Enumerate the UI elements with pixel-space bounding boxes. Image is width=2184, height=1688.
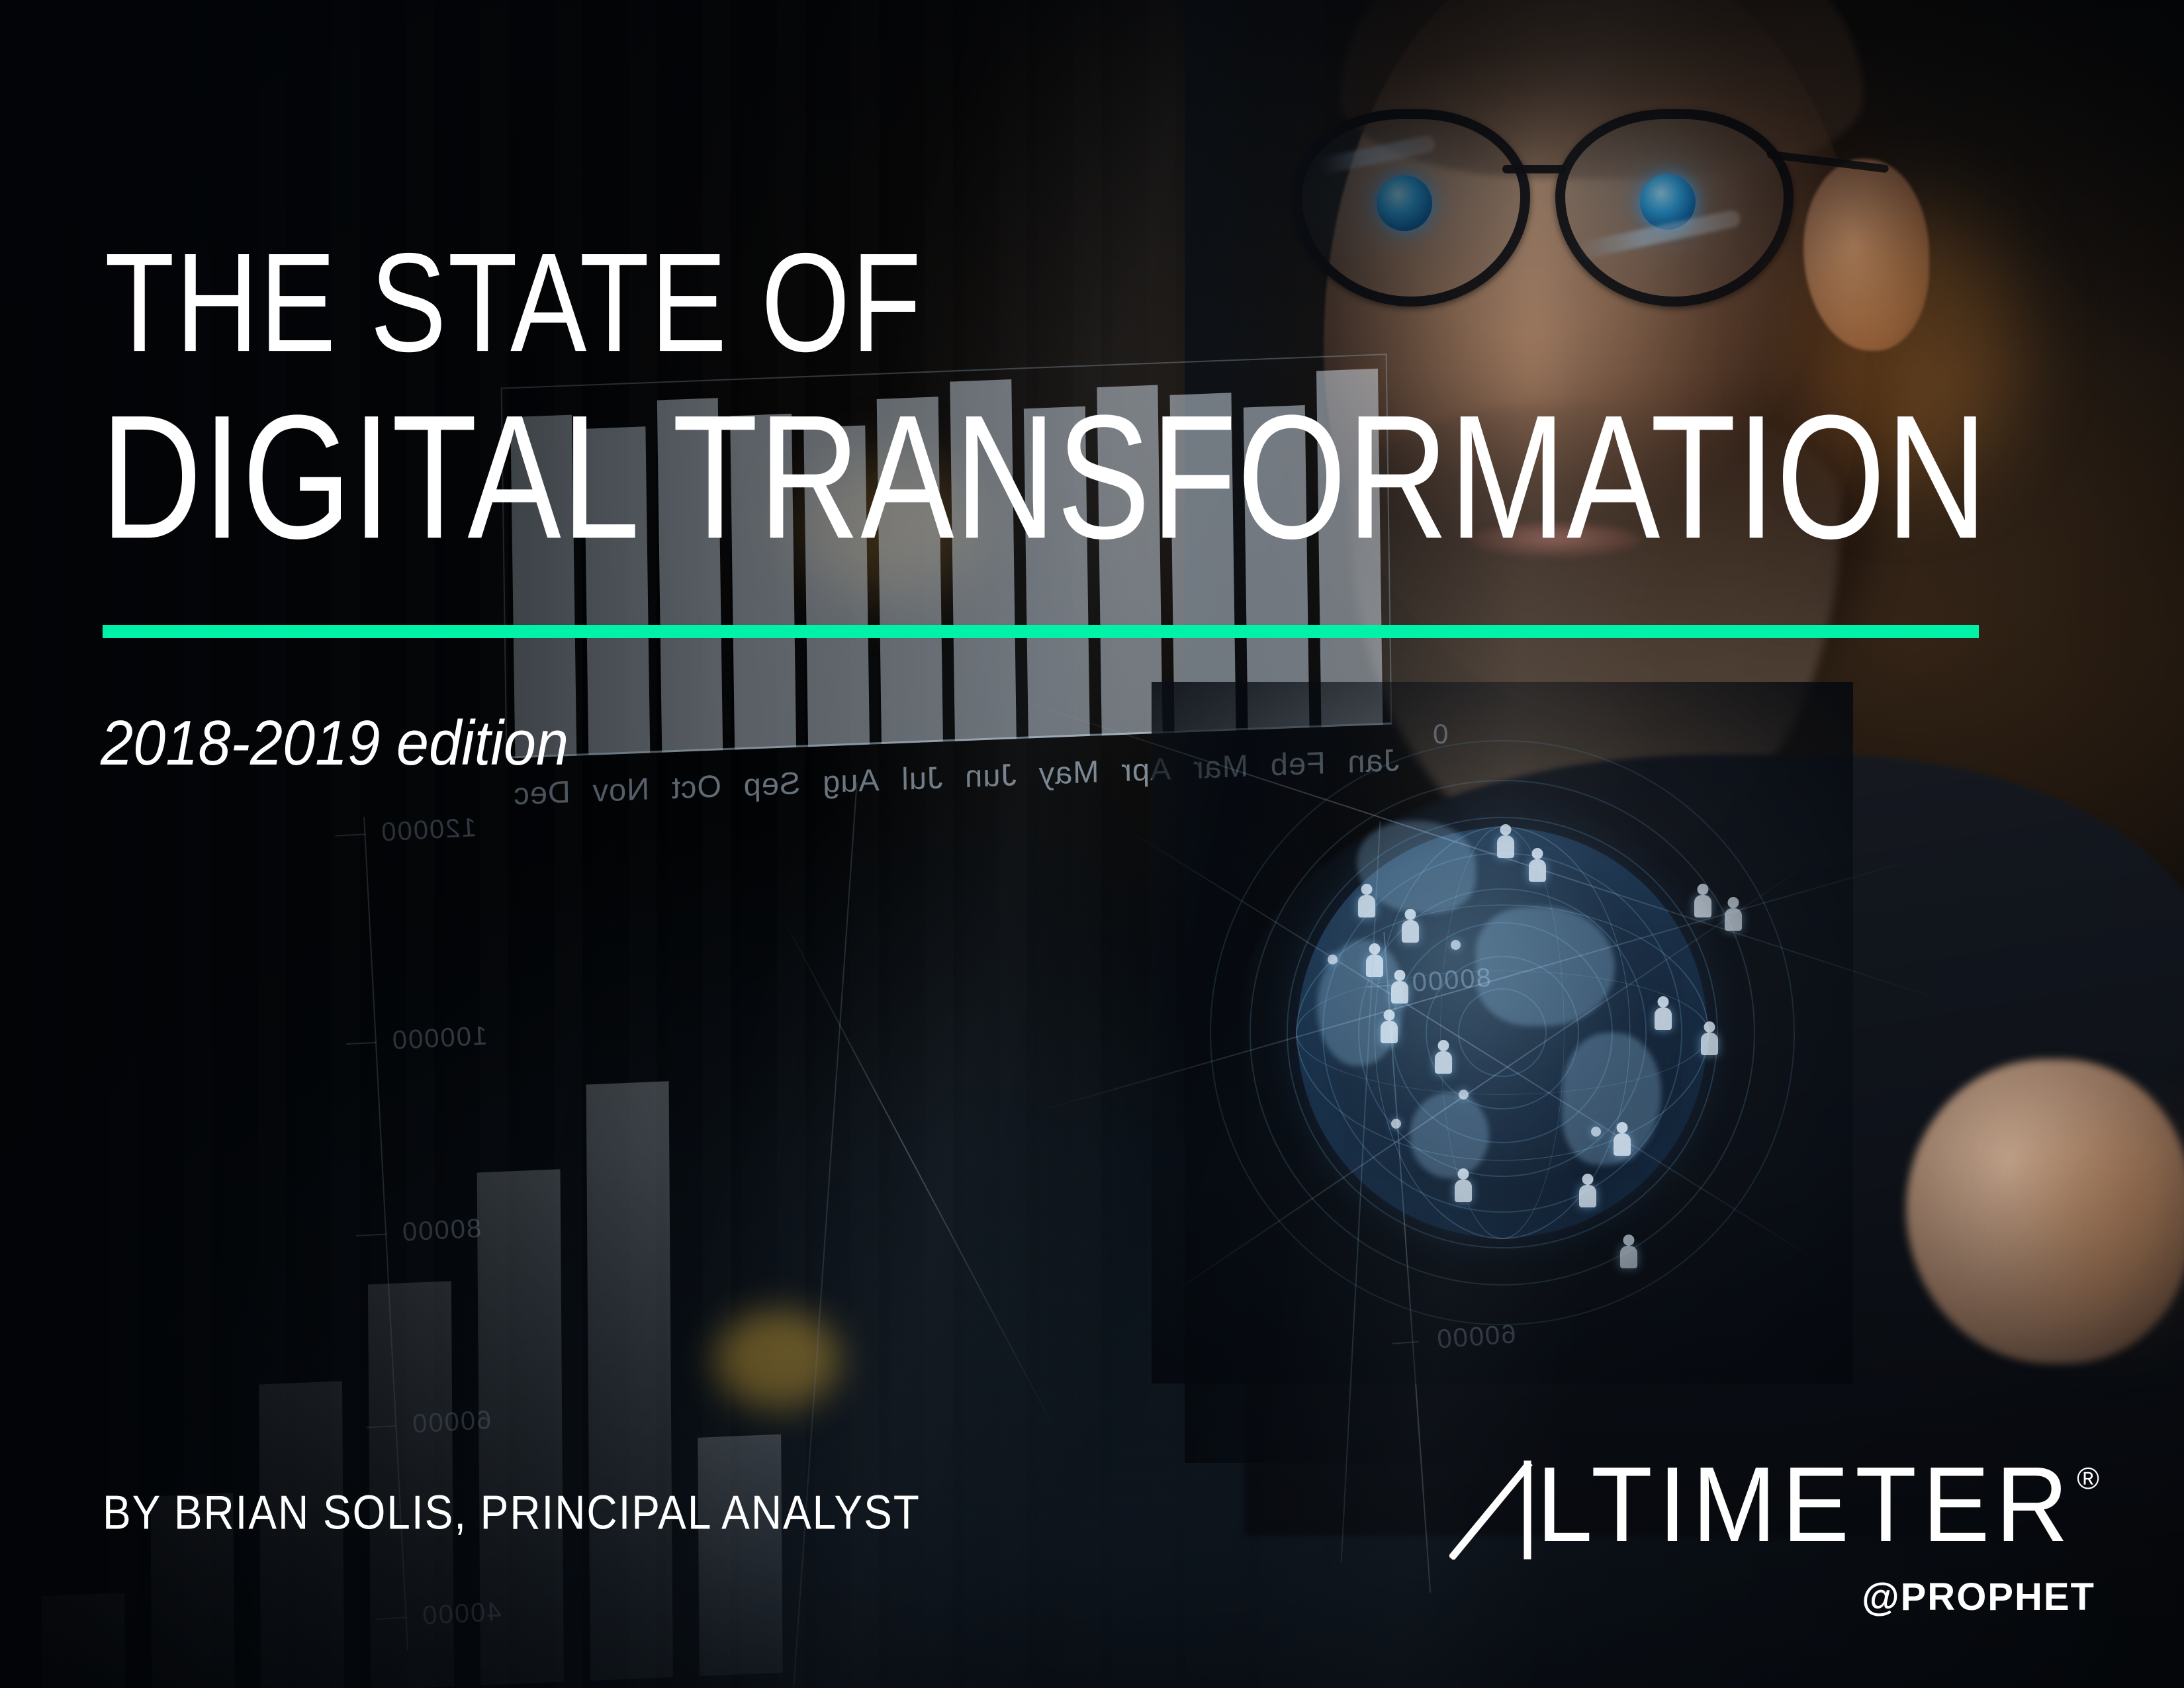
altimeter-logo[interactable]: LTIMETER ® @PROPHET	[1449, 1459, 2099, 1619]
page-title-line-2: DIGITAL TRANSFORMATION	[101, 389, 1988, 565]
cover-typography: THE STATE OF DIGITAL TRANSFORMATION 2018…	[0, 0, 2184, 1688]
registered-trademark-icon: ®	[2077, 1463, 2099, 1493]
accent-rule	[103, 625, 1979, 638]
page-title-line-1: THE STATE OF	[105, 233, 923, 373]
prophet-sublogo: @PROPHET	[1449, 1575, 2095, 1619]
report-cover: Jan Feb Mar Apr May Jun Jul Aug Sep Oct …	[0, 0, 2184, 1688]
altimeter-wordmark-text: LTIMETER	[1537, 1459, 2074, 1551]
altimeter-wordmark: LTIMETER ®	[1449, 1459, 2099, 1563]
author-byline: BY BRIAN SOLIS, PRINCIPAL ANALYST	[103, 1488, 921, 1536]
edition-label: 2018-2019 edition	[101, 712, 569, 775]
altimeter-a-glyph-icon	[1449, 1459, 1537, 1563]
